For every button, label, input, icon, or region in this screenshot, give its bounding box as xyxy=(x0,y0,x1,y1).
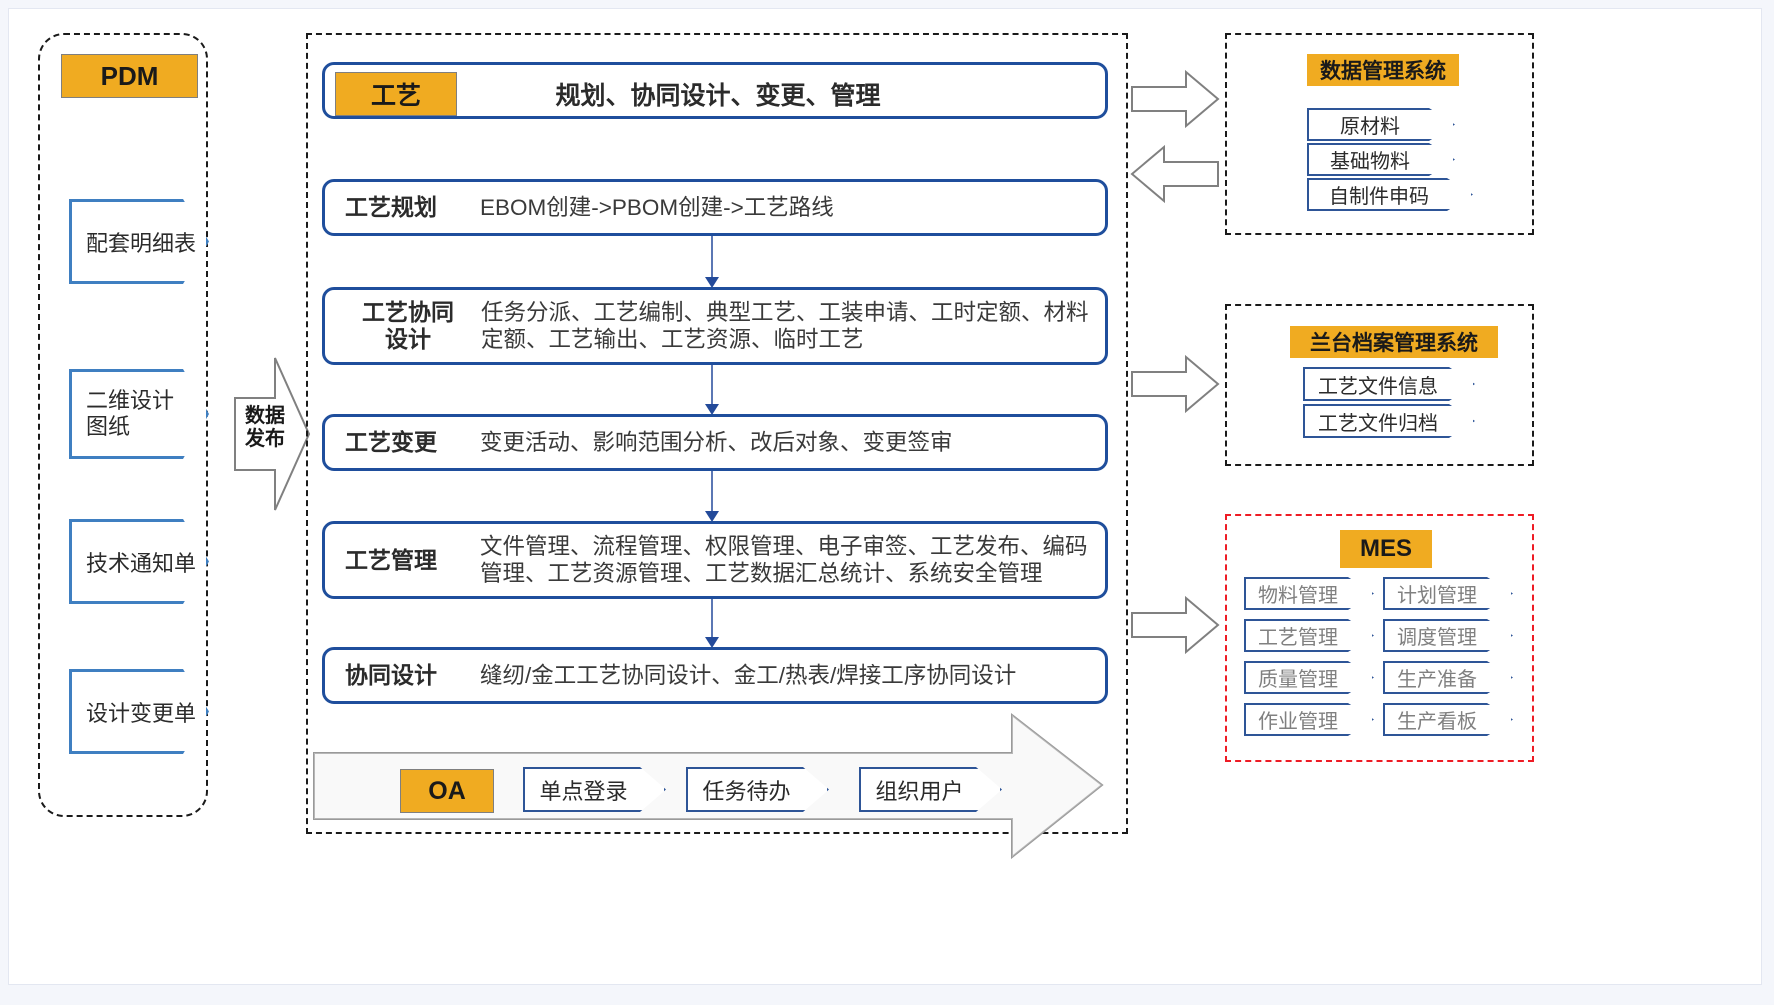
system-0-item-0-label: 原材料 xyxy=(1309,110,1453,139)
system-0-item-2-label: 自制件申码 xyxy=(1309,180,1471,209)
process-row-4-label: 协同设计 xyxy=(345,662,465,689)
process-row-4-text: 缝纫/金工工艺协同设计、金工/热表/焊接工序协同设计 xyxy=(480,662,1016,689)
oa-item-0[interactable]: 单点登录 xyxy=(523,767,666,812)
connector-line-1 xyxy=(711,365,713,408)
system-0-title-label: 数据管理系统 xyxy=(1320,55,1446,85)
pdm-item-1-label: 二维设计 图纸 xyxy=(72,388,174,441)
oa-item-1-label: 任务待办 xyxy=(688,774,827,806)
system-2-item-5-label: 生产准备 xyxy=(1385,663,1511,692)
pdm-item-2-label: 技术通知单 xyxy=(72,546,196,578)
process-row-3[interactable]: 工艺管理 文件管理、流程管理、权限管理、电子审签、工艺发布、编码 管理、工艺资源… xyxy=(322,521,1108,599)
pdm-badge: PDM xyxy=(61,54,198,98)
system-0-item-1[interactable]: 基础物料 xyxy=(1307,143,1455,176)
arrow-to-data-management xyxy=(1130,69,1220,129)
connector-line-0 xyxy=(711,236,713,281)
connector-line-3 xyxy=(711,599,713,641)
system-data-management-system-title: 数据管理系统 xyxy=(1307,54,1459,86)
process-row-2[interactable]: 工艺变更 变更活动、影响范围分析、改后对象、变更签审 xyxy=(322,414,1108,471)
system-lantai-archive-system-title: 兰台档案管理系统 xyxy=(1290,326,1498,358)
system-0-item-0[interactable]: 原材料 xyxy=(1307,108,1455,141)
oa-item-1[interactable]: 任务待办 xyxy=(686,767,829,812)
pdm-badge-label: PDM xyxy=(101,61,159,92)
process-row-1[interactable]: 工艺协同 设计 任务分派、工艺编制、典型工艺、工装申请、工时定额、材料 定额、工… xyxy=(322,287,1108,365)
system-1-item-0-label: 工艺文件信息 xyxy=(1305,370,1473,399)
diagram-board: PDM 配套明细表 二维设计 图纸 技术通知单 设计变更单 数据 发布 工艺 xyxy=(8,8,1762,985)
pdm-item-2[interactable]: 技术通知单 xyxy=(69,519,209,604)
system-2-item-2-label: 工艺管理 xyxy=(1246,621,1372,650)
system-2-item-6[interactable]: 作业管理 xyxy=(1244,703,1374,736)
pdm-item-0[interactable]: 配套明细表 xyxy=(69,199,209,284)
pdm-item-3-label: 设计变更单 xyxy=(72,696,196,728)
connector-line-2 xyxy=(711,471,713,515)
pdm-item-1[interactable]: 二维设计 图纸 xyxy=(69,369,209,459)
system-0-item-1-label: 基础物料 xyxy=(1309,145,1453,174)
system-mes-system-title: MES xyxy=(1340,530,1432,568)
system-2-item-7-label: 生产看板 xyxy=(1385,705,1511,734)
oa-item-2[interactable]: 组织用户 xyxy=(859,767,1002,812)
system-2-item-5[interactable]: 生产准备 xyxy=(1383,661,1513,694)
oa-item-2-label: 组织用户 xyxy=(861,774,1000,806)
pdm-item-3[interactable]: 设计变更单 xyxy=(69,669,209,754)
oa-badge: OA xyxy=(400,769,494,813)
process-row-0-text: EBOM创建->PBOM创建->工艺路线 xyxy=(480,194,834,221)
system-1-item-1-label: 工艺文件归档 xyxy=(1305,407,1473,436)
process-row-3-text: 文件管理、流程管理、权限管理、电子审签、工艺发布、编码 管理、工艺资源管理、工艺… xyxy=(480,533,1088,588)
system-2-item-1[interactable]: 计划管理 xyxy=(1383,577,1513,610)
system-2-item-3-label: 调度管理 xyxy=(1385,621,1511,650)
process-row-4[interactable]: 协同设计 缝纫/金工工艺协同设计、金工/热表/焊接工序协同设计 xyxy=(322,647,1108,704)
arrow-to-lantai-archive xyxy=(1130,354,1220,414)
arrow-from-data-management xyxy=(1130,144,1220,204)
diagram-canvas: PDM 配套明细表 二维设计 图纸 技术通知单 设计变更单 数据 发布 工艺 xyxy=(0,0,1774,1005)
pdm-item-0-label: 配套明细表 xyxy=(72,226,196,258)
process-row-0[interactable]: 工艺规划 EBOM创建->PBOM创建->工艺路线 xyxy=(322,179,1108,236)
process-row-1-label: 工艺协同 设计 xyxy=(353,299,463,352)
system-2-item-3[interactable]: 调度管理 xyxy=(1383,619,1513,652)
system-2-item-1-label: 计划管理 xyxy=(1385,579,1511,608)
oa-badge-label: OA xyxy=(428,777,466,806)
system-2-item-0[interactable]: 物料管理 xyxy=(1244,577,1374,610)
process-header-text: 规划、协同设计、变更、管理 xyxy=(325,65,1111,122)
process-header-row: 工艺 规划、协同设计、变更、管理 xyxy=(322,62,1108,119)
arrow-to-mes xyxy=(1130,595,1220,655)
process-row-0-label: 工艺规划 xyxy=(345,194,465,221)
data-publish-label: 数据 发布 xyxy=(235,405,295,451)
system-2-item-0-label: 物料管理 xyxy=(1246,579,1372,608)
system-2-item-2[interactable]: 工艺管理 xyxy=(1244,619,1374,652)
process-row-1-text: 任务分派、工艺编制、典型工艺、工装申请、工时定额、材料 定额、工艺输出、工艺资源… xyxy=(481,299,1089,354)
system-2-item-7[interactable]: 生产看板 xyxy=(1383,703,1513,736)
system-1-item-1[interactable]: 工艺文件归档 xyxy=(1303,404,1475,438)
system-2-item-4[interactable]: 质量管理 xyxy=(1244,661,1374,694)
system-1-item-0[interactable]: 工艺文件信息 xyxy=(1303,367,1475,401)
system-0-item-2[interactable]: 自制件申码 xyxy=(1307,178,1473,211)
oa-item-0-label: 单点登录 xyxy=(525,774,664,806)
process-row-3-label: 工艺管理 xyxy=(345,547,465,574)
system-2-title-label: MES xyxy=(1360,535,1412,563)
process-row-2-label: 工艺变更 xyxy=(345,429,465,456)
system-1-title-label: 兰台档案管理系统 xyxy=(1310,327,1478,357)
system-2-item-6-label: 作业管理 xyxy=(1246,705,1372,734)
system-2-item-4-label: 质量管理 xyxy=(1246,663,1372,692)
process-row-2-text: 变更活动、影响范围分析、改后对象、变更签审 xyxy=(480,429,953,456)
